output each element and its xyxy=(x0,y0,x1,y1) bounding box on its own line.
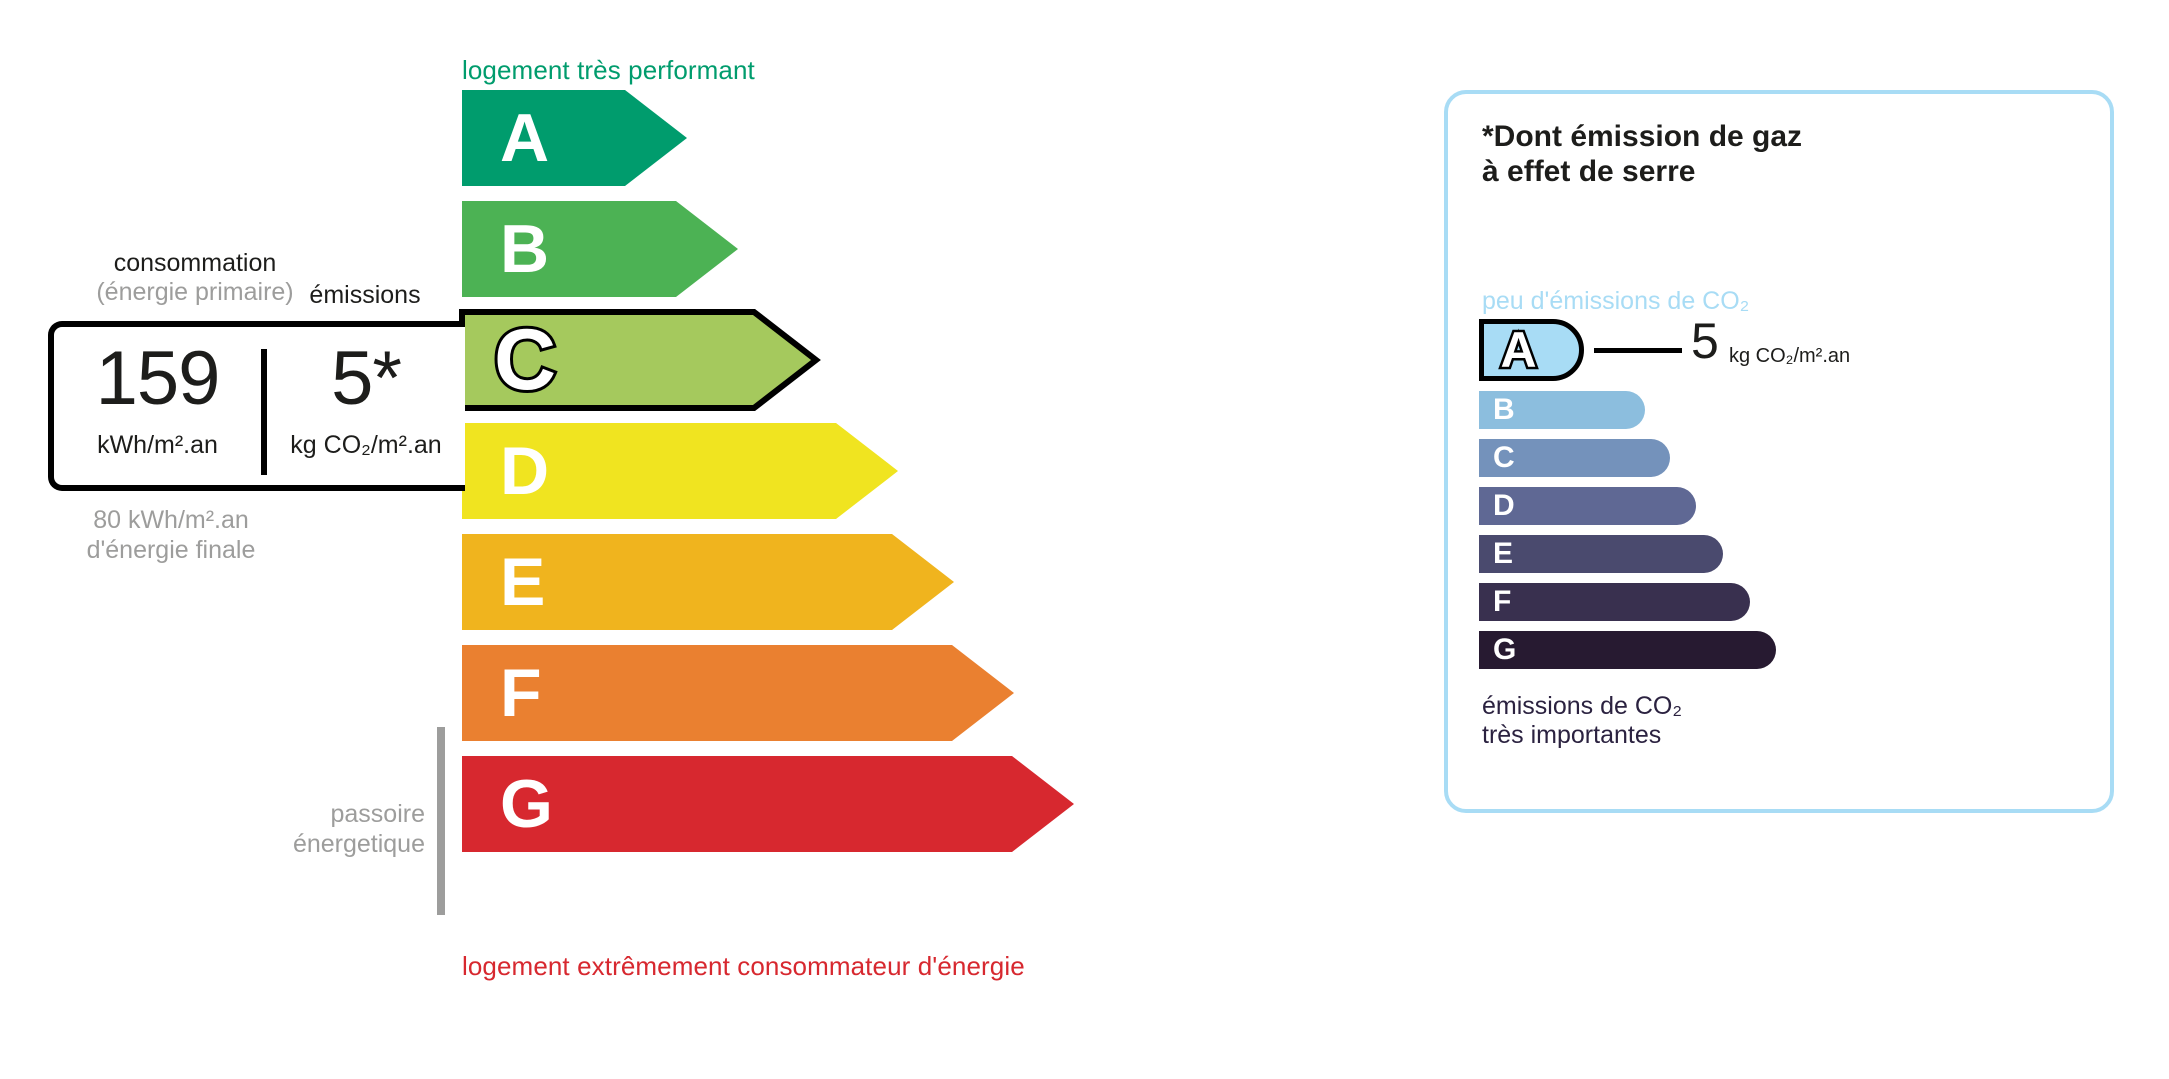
co2-top-caption: peu d'émissions de CO₂ xyxy=(1482,287,1749,316)
energy-grade-row-g: G xyxy=(462,756,1074,852)
co2-grade-letter-g: G xyxy=(1493,635,1516,665)
energy-grade-letter-d: D xyxy=(500,437,549,505)
emissions-value: 5* xyxy=(267,341,465,417)
energy-grade-letter-g: G xyxy=(500,770,553,838)
co2-grade-letter-c: C xyxy=(1493,443,1515,473)
consumption-header-line1: consommation xyxy=(114,249,277,277)
energy-arrow-shape xyxy=(462,90,687,186)
final-energy-line2: d'énergie finale xyxy=(56,536,286,566)
energy-grade-letter-c: C xyxy=(494,317,556,403)
co2-grade-letter-b: B xyxy=(1493,395,1515,425)
energy-performance-panel: logement très performant ABCDEFG consomm… xyxy=(0,0,1400,1079)
co2-grade-bar-c: C xyxy=(1479,439,1670,477)
co2-grade-letter-d: D xyxy=(1493,491,1515,521)
energy-grade-letter-a: A xyxy=(500,104,549,172)
consumption-value: 159 xyxy=(54,341,261,417)
energy-grade-letter-b: B xyxy=(500,215,549,283)
co2-grade-bar-f: F xyxy=(1479,583,1750,621)
energy-arrow-g-icon xyxy=(462,756,1074,852)
emissions-unit: kg CO₂/m².an xyxy=(267,431,465,460)
co2-bottom-caption: émissions de CO₂ très importantes xyxy=(1482,692,1682,750)
passoire-label: passoire énergetique xyxy=(245,800,425,859)
co2-value: 5 xyxy=(1691,316,1719,366)
energy-grade-row-c: C xyxy=(462,312,816,408)
co2-emissions-panel: *Dont émission de gaz à effet de serre p… xyxy=(1444,90,2114,813)
energy-arrow-shape xyxy=(462,645,1014,741)
co2-grade-letter-f: F xyxy=(1493,587,1511,617)
co2-leader-line xyxy=(1594,348,1682,353)
passoire-line1: passoire xyxy=(245,800,425,830)
emissions-cell: 5* kg CO₂/m².an xyxy=(267,327,465,485)
energy-grade-row-d: D xyxy=(462,423,898,519)
consumption-header: consommation (énergie primaire) xyxy=(70,249,320,307)
co2-grade-bar-e: E xyxy=(1479,535,1723,573)
energy-bottom-caption: logement extrêmement consommateur d'éner… xyxy=(462,951,1025,982)
final-energy-note: 80 kWh/m².an d'énergie finale xyxy=(56,506,286,565)
final-energy-line1: 80 kWh/m².an xyxy=(56,506,286,536)
consumption-cell: 159 kWh/m².an xyxy=(54,327,261,485)
consumption-unit: kWh/m².an xyxy=(54,431,261,460)
co2-panel-title: *Dont émission de gaz à effet de serre xyxy=(1482,119,1802,190)
co2-grade-letter-e: E xyxy=(1493,539,1513,569)
energy-grade-row-b: B xyxy=(462,201,738,297)
co2-value-unit: kg CO₂/m².an xyxy=(1729,345,1850,368)
consumption-header-line2: (énergie primaire) xyxy=(70,278,320,307)
energy-grade-row-a: A xyxy=(462,90,687,186)
energy-values-box: 159 kWh/m².an 5* kg CO₂/m².an xyxy=(48,321,465,491)
energy-grade-row-f: F xyxy=(462,645,1014,741)
energy-arrow-f-icon xyxy=(462,645,1014,741)
energy-grade-letter-f: F xyxy=(500,659,542,727)
passoire-line2: énergetique xyxy=(245,830,425,860)
energy-arrow-shape xyxy=(462,756,1074,852)
co2-grade-bar-d: D xyxy=(1479,487,1696,525)
co2-badge-letter: A xyxy=(1479,325,1558,375)
passoire-marker-bar xyxy=(437,727,445,915)
co2-current-grade-badge: A xyxy=(1479,319,1584,381)
energy-grade-letter-e: E xyxy=(500,548,545,616)
energy-grade-row-e: E xyxy=(462,534,954,630)
co2-grade-bar-g: G xyxy=(1479,631,1776,669)
energy-arrow-a-icon xyxy=(462,90,687,186)
co2-grade-bar-b: B xyxy=(1479,391,1645,429)
emissions-header: émissions xyxy=(300,281,430,310)
